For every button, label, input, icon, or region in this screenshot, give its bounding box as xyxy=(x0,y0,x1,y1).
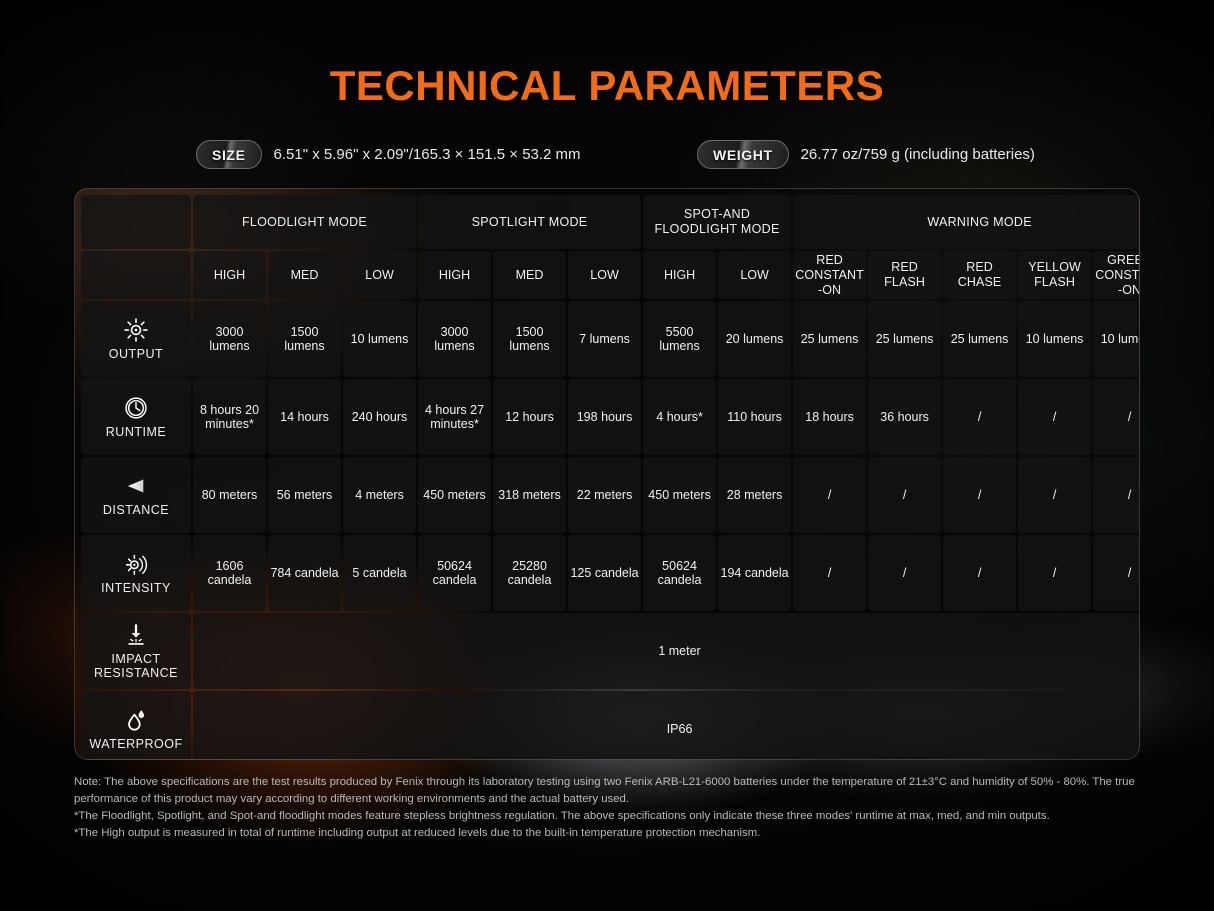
col-header-spotlight-high: HIGH xyxy=(418,251,491,299)
column-header-row: HIGH MED LOW HIGH MED LOW HIGH LOW RED C… xyxy=(81,251,1140,299)
cell-intensity-8: / xyxy=(793,535,866,611)
cell-distance-9: / xyxy=(868,457,941,533)
table-row: WATERPROOF IP66 xyxy=(81,691,1140,760)
cell-output-9: 25 lumens xyxy=(868,301,941,377)
cell-runtime-9: 36 hours xyxy=(868,379,941,455)
weight-badge: WEIGHT xyxy=(697,140,789,169)
cell-runtime-6: 4 hours* xyxy=(643,379,716,455)
cell-runtime-10: / xyxy=(943,379,1016,455)
cell-output-4: 1500 lumens xyxy=(493,301,566,377)
cell-intensity-3: 50624 candela xyxy=(418,535,491,611)
size-value: 6.51" x 5.96" x 2.09"/165.3 × 151.5 × 53… xyxy=(274,146,581,163)
cell-output-7: 20 lumens xyxy=(718,301,791,377)
col-header-spotandflood-high: HIGH xyxy=(643,251,716,299)
table-row: IMPACT RESISTANCE 1 meter xyxy=(81,613,1140,689)
beam-triangle-icon xyxy=(123,473,149,499)
col-header-red-constant-on: RED CONSTANT -ON xyxy=(793,251,866,299)
cell-distance-11: / xyxy=(1018,457,1091,533)
cell-runtime-5: 198 hours xyxy=(568,379,641,455)
table-row: INTENSITY 1606 candela 784 candela 5 can… xyxy=(81,535,1140,611)
col-header-floodlight-med: MED xyxy=(268,251,341,299)
col-header-red-flash: RED FLASH xyxy=(868,251,941,299)
cell-distance-7: 28 meters xyxy=(718,457,791,533)
cell-output-5: 7 lumens xyxy=(568,301,641,377)
row-label-text: OUTPUT xyxy=(109,348,163,362)
cell-output-2: 10 lumens xyxy=(343,301,416,377)
footnote-stepless: *The Floodlight, Spotlight, and Spot-and… xyxy=(74,808,1149,825)
sun-icon xyxy=(123,317,149,343)
cell-runtime-7: 110 hours xyxy=(718,379,791,455)
cell-runtime-12: / xyxy=(1093,379,1140,455)
weight-value: 26.77 oz/759 g (including batteries) xyxy=(801,146,1035,163)
specification-table: FLOODLIGHT MODE SPOTLIGHT MODE SPOT-AND … xyxy=(79,193,1140,760)
cell-output-1: 1500 lumens xyxy=(268,301,341,377)
row-label-text: RUNTIME xyxy=(106,426,166,440)
cell-intensity-4: 25280 candela xyxy=(493,535,566,611)
group-header-floodlight: FLOODLIGHT MODE xyxy=(193,195,416,249)
table-row: DISTANCE 80 meters 56 meters 4 meters 45… xyxy=(81,457,1140,533)
col-header-spotlight-med: MED xyxy=(493,251,566,299)
footnotes: Note: The above specifications are the t… xyxy=(74,774,1149,842)
page-root: TECHNICAL PARAMETERS SIZE 6.51" x 5.96" … xyxy=(0,0,1214,911)
row-label-text: DISTANCE xyxy=(103,504,169,518)
row-label-text: WATERPROOF xyxy=(89,738,182,752)
table-row: RUNTIME 8 hours 20 minutes* 14 hours 240… xyxy=(81,379,1140,455)
col-header-floodlight-low: LOW xyxy=(343,251,416,299)
clock-icon xyxy=(123,395,149,421)
row-label-intensity: INTENSITY xyxy=(81,535,191,611)
cell-distance-8: / xyxy=(793,457,866,533)
group-header-spotlight: SPOTLIGHT MODE xyxy=(418,195,641,249)
cell-output-12: 10 lumens xyxy=(1093,301,1140,377)
table-head: FLOODLIGHT MODE SPOTLIGHT MODE SPOT-AND … xyxy=(81,195,1140,299)
cell-output-11: 10 lumens xyxy=(1018,301,1091,377)
group-header-warning: WARNING MODE xyxy=(793,195,1140,249)
impact-arrow-icon xyxy=(123,622,149,648)
weight-spec: WEIGHT 26.77 oz/759 g (including batteri… xyxy=(697,140,1035,169)
cell-output-8: 25 lumens xyxy=(793,301,866,377)
cell-distance-12: / xyxy=(1093,457,1140,533)
col-header-green-constant-on: GREEN CONSTANT -ON xyxy=(1093,251,1140,299)
corner-cell-top xyxy=(81,195,191,249)
cell-output-3: 3000 lumens xyxy=(418,301,491,377)
cell-distance-2: 4 meters xyxy=(343,457,416,533)
row-label-output: OUTPUT xyxy=(81,301,191,377)
cell-intensity-12: / xyxy=(1093,535,1140,611)
row-label-distance: DISTANCE xyxy=(81,457,191,533)
cell-intensity-5: 125 candela xyxy=(568,535,641,611)
size-spec: SIZE 6.51" x 5.96" x 2.09"/165.3 × 151.5… xyxy=(196,140,581,169)
size-badge: SIZE xyxy=(196,140,262,169)
cell-distance-3: 450 meters xyxy=(418,457,491,533)
cell-intensity-0: 1606 candela xyxy=(193,535,266,611)
col-header-red-chase: RED CHASE xyxy=(943,251,1016,299)
specification-table-container: FLOODLIGHT MODE SPOTLIGHT MODE SPOT-AND … xyxy=(74,188,1140,760)
cell-runtime-0: 8 hours 20 minutes* xyxy=(193,379,266,455)
cell-output-10: 25 lumens xyxy=(943,301,1016,377)
cell-distance-5: 22 meters xyxy=(568,457,641,533)
cell-runtime-11: / xyxy=(1018,379,1091,455)
cell-intensity-6: 50624 candela xyxy=(643,535,716,611)
cell-intensity-11: / xyxy=(1018,535,1091,611)
group-header-row: FLOODLIGHT MODE SPOTLIGHT MODE SPOT-AND … xyxy=(81,195,1140,249)
footnote-note: Note: The above specifications are the t… xyxy=(74,774,1149,808)
cell-runtime-3: 4 hours 27 minutes* xyxy=(418,379,491,455)
cell-waterproof-value: IP66 xyxy=(193,691,1140,760)
cell-distance-0: 80 meters xyxy=(193,457,266,533)
water-drop-icon xyxy=(123,707,149,733)
cell-runtime-1: 14 hours xyxy=(268,379,341,455)
cell-impact-resistance-value: 1 meter xyxy=(193,613,1140,689)
col-header-spotlight-low: LOW xyxy=(568,251,641,299)
col-header-floodlight-high: HIGH xyxy=(193,251,266,299)
group-header-spot-and-floodlight: SPOT-AND FLOODLIGHT MODE xyxy=(643,195,791,249)
col-header-spotandflood-low: LOW xyxy=(718,251,791,299)
cell-output-6: 5500 lumens xyxy=(643,301,716,377)
sun-rays-icon xyxy=(123,551,149,577)
cell-distance-4: 318 meters xyxy=(493,457,566,533)
page-title: TECHNICAL PARAMETERS xyxy=(0,62,1214,110)
cell-distance-1: 56 meters xyxy=(268,457,341,533)
cell-intensity-10: / xyxy=(943,535,1016,611)
cell-distance-6: 450 meters xyxy=(643,457,716,533)
cell-runtime-2: 240 hours xyxy=(343,379,416,455)
row-label-waterproof: WATERPROOF xyxy=(81,691,191,760)
row-label-text: IMPACT RESISTANCE xyxy=(82,653,190,680)
col-header-yellow-flash: YELLOW FLASH xyxy=(1018,251,1091,299)
footnote-high-output: *The High output is measured in total of… xyxy=(74,825,1149,842)
row-label-text: INTENSITY xyxy=(101,582,171,596)
row-label-runtime: RUNTIME xyxy=(81,379,191,455)
cell-intensity-7: 194 candela xyxy=(718,535,791,611)
cell-intensity-9: / xyxy=(868,535,941,611)
cell-output-0: 3000 lumens xyxy=(193,301,266,377)
cell-distance-10: / xyxy=(943,457,1016,533)
table-body: OUTPUT 3000 lumens 1500 lumens 10 lumens… xyxy=(81,301,1140,760)
row-label-impact-resistance: IMPACT RESISTANCE xyxy=(81,613,191,689)
table-row: OUTPUT 3000 lumens 1500 lumens 10 lumens… xyxy=(81,301,1140,377)
cell-intensity-2: 5 candela xyxy=(343,535,416,611)
cell-intensity-1: 784 candela xyxy=(268,535,341,611)
cell-runtime-8: 18 hours xyxy=(793,379,866,455)
cell-runtime-4: 12 hours xyxy=(493,379,566,455)
corner-cell-sub xyxy=(81,251,191,299)
